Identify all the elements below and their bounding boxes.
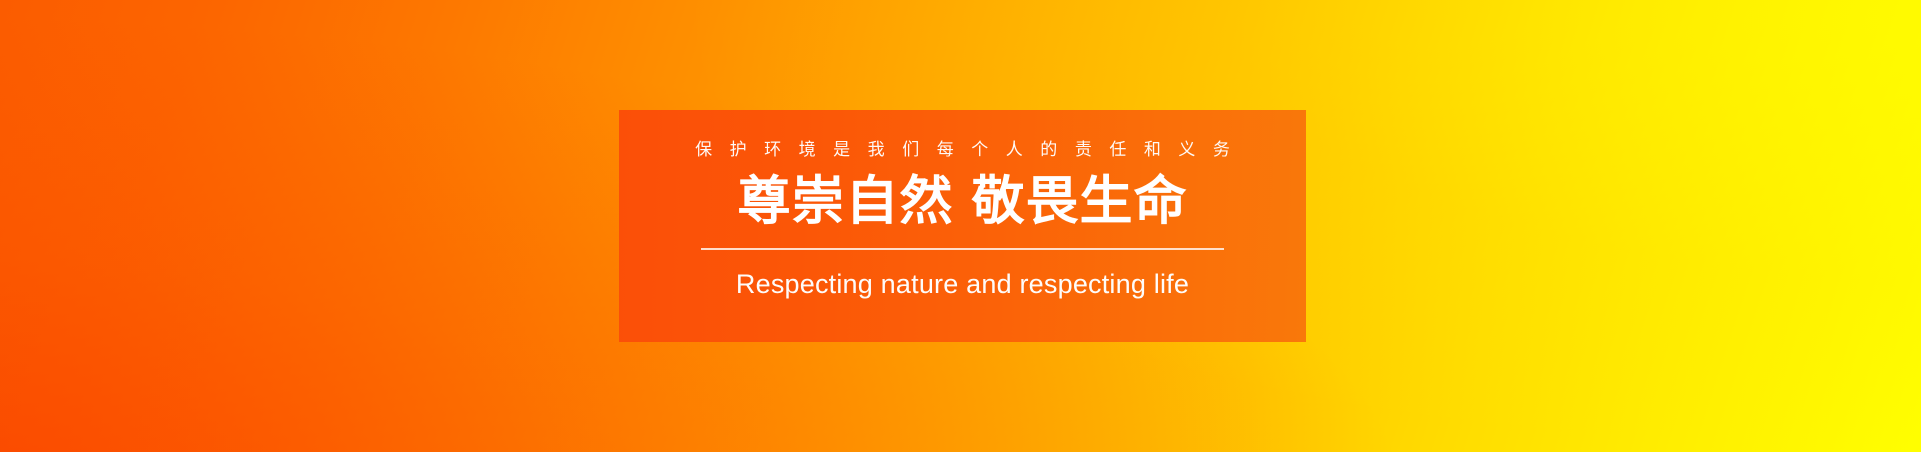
eyebrow-text: 保 护 环 境 是 我 们 每 个 人 的 责 任 和 义 务 (689, 141, 1237, 158)
english-subline: Respecting nature and respecting life (736, 271, 1189, 298)
headline-phrase-right: 敬畏生命 (972, 172, 1188, 231)
environmental-banner: 保 护 环 境 是 我 们 每 个 人 的 责 任 和 义 务 尊崇自然敬畏生命… (0, 0, 1921, 452)
slogan-plaque: 保 护 环 境 是 我 们 每 个 人 的 责 任 和 义 务 尊崇自然敬畏生命… (619, 110, 1306, 342)
divider-rule (701, 248, 1224, 250)
headline: 尊崇自然敬畏生命 (738, 175, 1188, 228)
headline-phrase-left: 尊崇自然 (738, 172, 954, 231)
